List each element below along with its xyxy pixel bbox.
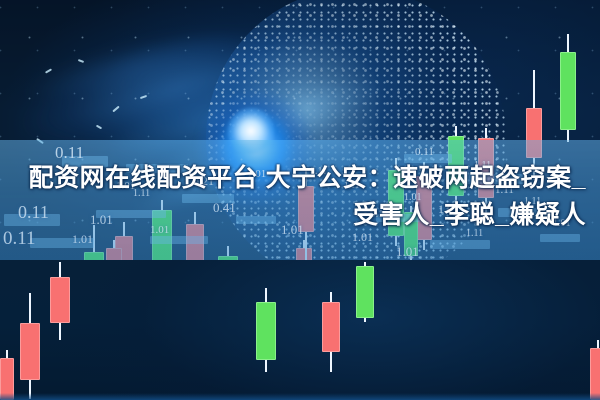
candle-body [256,302,276,360]
candlestick-down [50,262,70,340]
bottom-edge-glow [0,393,600,400]
candle-body [20,323,40,380]
candle-body [50,277,70,323]
candle-body [322,302,340,352]
candlestick-up [356,262,374,322]
candlestick-down [590,340,600,400]
candlestick-up [256,288,276,372]
candlestick-down [322,292,340,372]
candlestick-down [20,293,40,399]
headline-line-1: 配资网在线配资平台 大宁公安：速破两起盗窃案_ [14,160,586,197]
page-title: 配资网在线配资平台 大宁公安：速破两起盗窃案_ 受害人_李聪_嫌疑人 [0,160,600,234]
candle-body [356,266,374,318]
banner-image: 0.111.010.211.111.010.111.010.111.010.41… [0,0,600,400]
headline-line-2: 受害人_李聪_嫌疑人 [14,197,586,234]
